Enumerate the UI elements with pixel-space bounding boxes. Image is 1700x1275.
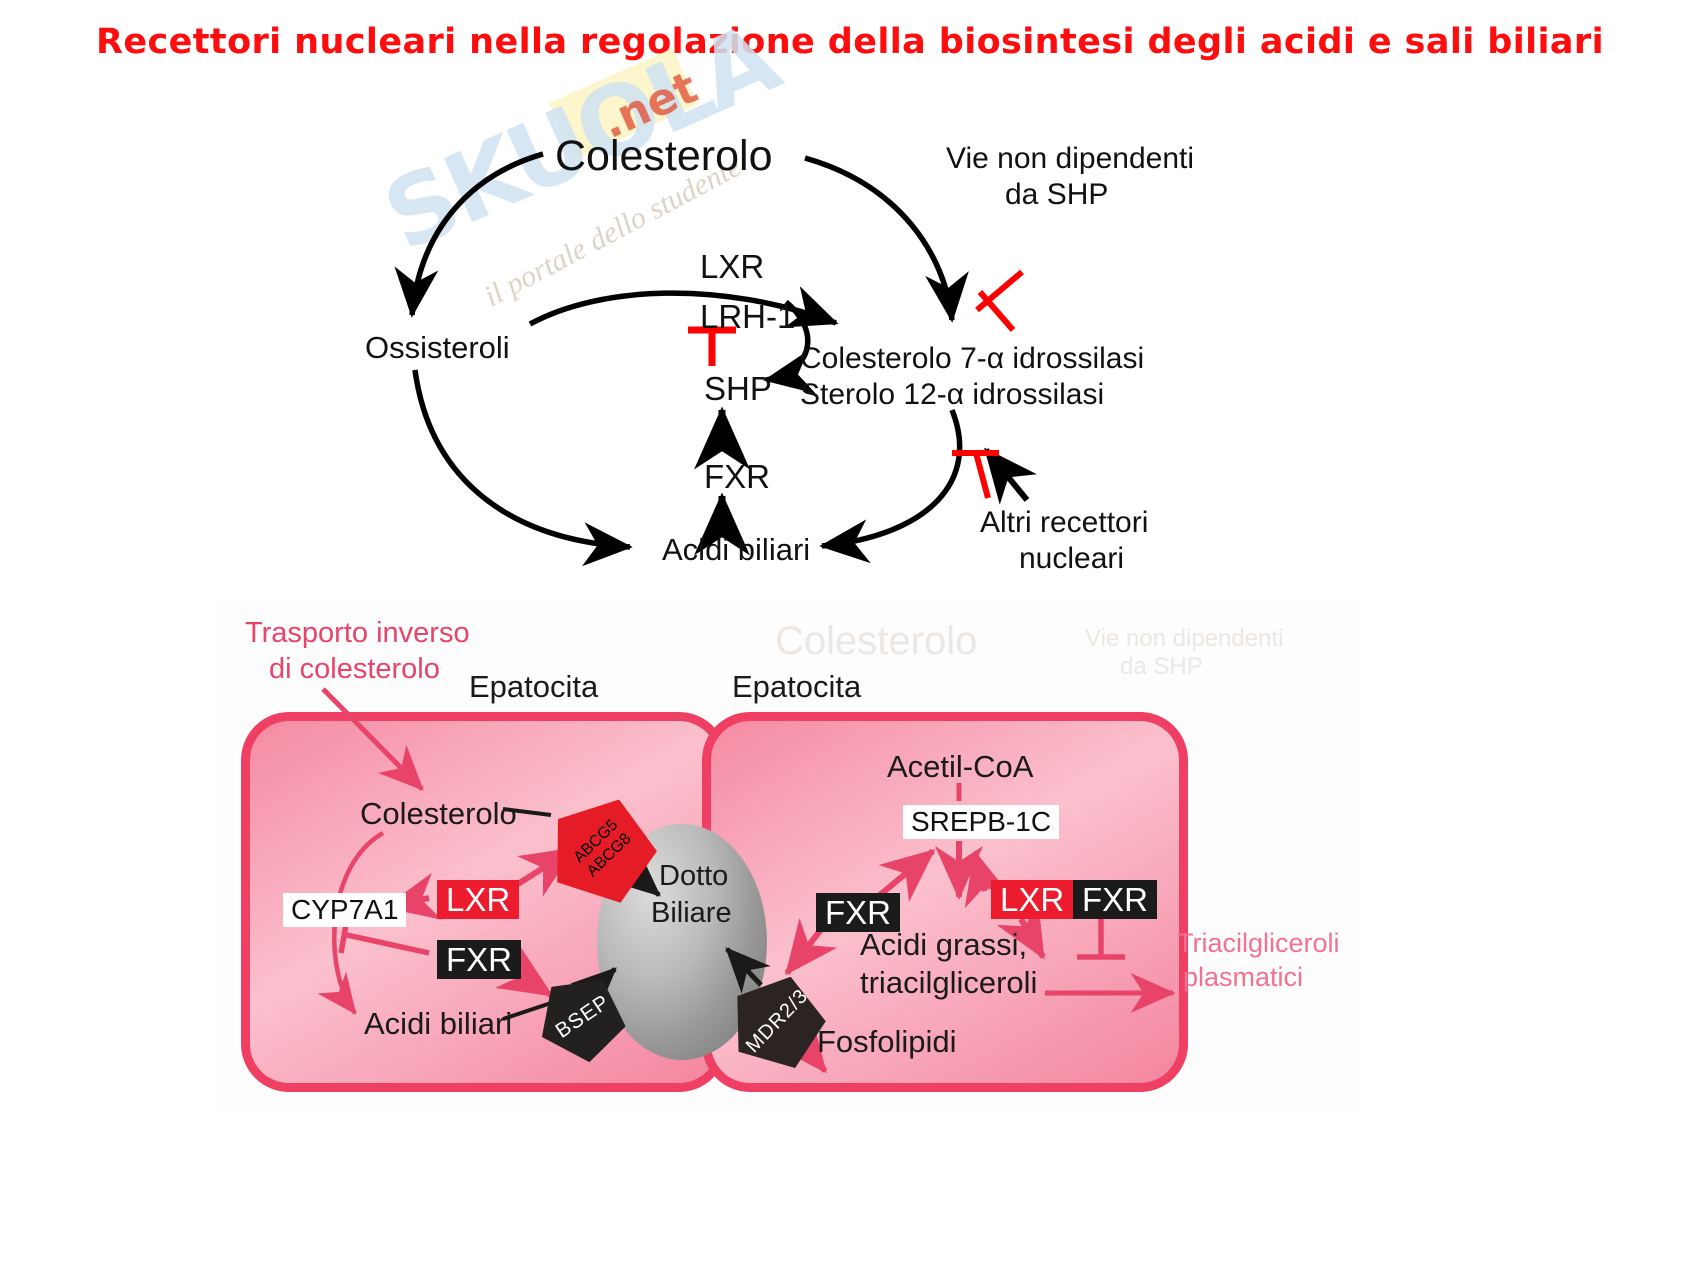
plasma-tg-label-2: plasmatici xyxy=(1183,962,1303,993)
label-shp-independent-2: da SHP xyxy=(1005,178,1108,212)
hepatocyte-right-label: Epatocita xyxy=(732,669,861,705)
page-title: Recettori nucleari nella regolazione del… xyxy=(0,22,1700,62)
label-lrh1: LRH-1 xyxy=(700,298,795,336)
label-lxr: LXR xyxy=(700,248,764,286)
cyp7a1-tag: CYP7A1 xyxy=(283,893,406,927)
bile-acids-label: Acidi biliari xyxy=(364,1006,512,1042)
phospholipids-label: Fosfolipidi xyxy=(817,1024,957,1060)
inhibition-shp-independent xyxy=(977,272,1022,330)
arrow-reverse-transport xyxy=(323,689,422,789)
bile-duct-label-2: Biliare xyxy=(651,897,732,930)
arrow-fxr-to-mdr xyxy=(787,927,823,973)
arrow-other-receptors xyxy=(986,450,1027,500)
arrow-cholesterol-to-enzymes xyxy=(805,158,952,320)
bile-duct-label-1: Dotto xyxy=(659,860,728,893)
bottom-hepatocyte-diagram: Colesterolo Vie non dipendenti da SHP xyxy=(215,601,1360,1113)
cholesterol-label: Colesterolo xyxy=(360,796,517,832)
arrow-cholesterol-to-oxysterols xyxy=(412,154,543,315)
reverse-transport-label-2: di colesterolo xyxy=(269,653,440,686)
fatty-acids-label-2: triacilgliceroli xyxy=(860,965,1037,1001)
srepb-1c-tag: SREPB-1C xyxy=(903,805,1059,839)
lxr-tag-right: LXR xyxy=(991,880,1073,919)
arrow-fxr-to-lipogenesis xyxy=(875,851,933,899)
arrow-enzymes-to-bileacids xyxy=(822,410,960,546)
lxr-tag-left: LXR xyxy=(437,880,519,919)
hepatocyte-left-label: Epatocita xyxy=(469,669,598,705)
arrow-lxr-to-srepb xyxy=(975,853,985,891)
arrow-oxysterols-to-bileacids xyxy=(415,370,630,547)
mdr-label: MDR2/3 xyxy=(742,984,814,1057)
label-shp-independent-1: Vie non dipendenti xyxy=(946,142,1194,176)
label-cholesterol: Colesterolo xyxy=(555,132,773,181)
label-oxysterols: Ossisteroli xyxy=(365,330,510,366)
label-enzyme-cyp7a1: Colesterolo 7-α idrossilasi xyxy=(800,342,1144,376)
bsep-label: BSEP xyxy=(551,990,614,1043)
reverse-transport-label-1: Trasporto inverso xyxy=(245,617,470,650)
fatty-acids-label-1: Acidi grassi, xyxy=(860,927,1027,963)
label-bile-acids: Acidi biliari xyxy=(662,532,810,568)
top-diagram-arrows xyxy=(0,80,1700,590)
fxr-tag-right: FXR xyxy=(1073,880,1157,919)
label-shp: SHP xyxy=(704,370,772,408)
fxr-tag-left: FXR xyxy=(437,940,521,979)
label-enzyme-cyp8b1: Sterolo 12-α idrossilasi xyxy=(800,378,1104,412)
label-fxr: FXR xyxy=(704,458,770,496)
slide-root: Recettori nucleari nella regolazione del… xyxy=(0,0,1700,1275)
inhibition-fxr-plasma-tg xyxy=(1077,919,1125,957)
label-other-receptors-2: nucleari xyxy=(1019,542,1124,576)
acetyl-coa-label: Acetil-CoA xyxy=(887,749,1033,785)
top-pathway-diagram: Colesterolo LXR LRH-1 SHP FXR Ossisterol… xyxy=(0,80,1700,590)
label-other-receptors-1: Altri recettori xyxy=(980,506,1148,540)
plasma-tg-label-1: Triacilgliceroli xyxy=(1177,928,1340,959)
arrow-mdr-to-duct xyxy=(727,949,761,985)
